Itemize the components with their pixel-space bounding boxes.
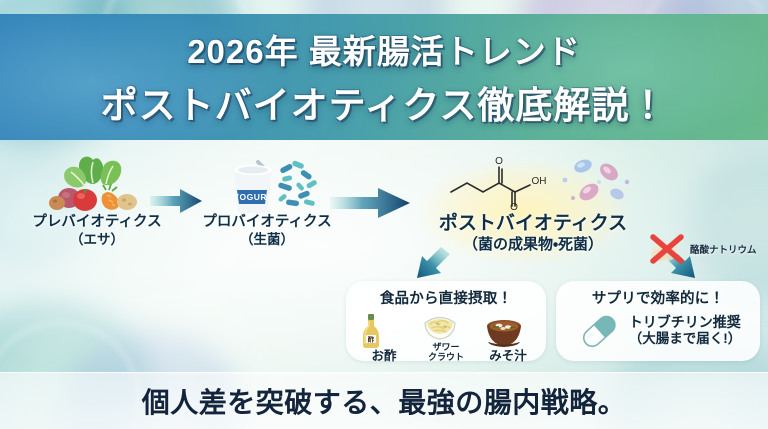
flow-node-postbiotics: O O OH — [398, 150, 668, 254]
infographic-canvas: 2026年 最新腸活トレンド ポストバイオティクス徹底解説！ — [0, 0, 768, 429]
card-food-title: 食品から直接摂取！ — [346, 287, 546, 308]
food-item-list: 酢 お酢 ザワー — [346, 310, 546, 363]
svg-text:酢: 酢 — [368, 334, 375, 343]
warning-group: 酪酸ナトリウム — [648, 232, 757, 266]
footer-tagline: 個人差を突破する、最強の腸内戦略。 — [142, 381, 627, 421]
footer-band: 個人差を突破する、最強の腸内戦略。 — [0, 372, 768, 429]
arrow-down-left-icon — [392, 244, 452, 286]
capsule-pill-icon — [575, 311, 623, 351]
sauerkraut-bowl-icon — [420, 310, 460, 342]
svg-text:OH: OH — [532, 176, 547, 187]
title-line-1: 2026年 最新腸活トレンド — [187, 25, 581, 73]
food-name-miso: みそ汁 — [482, 350, 534, 363]
yogurt-cup-icon: YOGURT — [182, 152, 352, 214]
flow-node-probiotics: YOGURT — [182, 152, 352, 248]
flow-label-prebiotics: プレバイオティクス （エサ） — [12, 214, 182, 248]
molecule-bacteria-icon: O O OH — [398, 150, 668, 212]
food-name-sauerkraut-line2: クラウト — [428, 352, 464, 362]
probiotics-sub: （生菌） — [182, 232, 352, 248]
probiotics-name: プロバイオティクス — [202, 214, 331, 230]
title-line-2: ポストバイオティクス徹底解説！ — [101, 75, 668, 129]
card-supplement: サプリで効率的に！ トリブチリン推奨 （大腸まで届く!） — [556, 281, 760, 361]
supplement-text: トリブチリン推奨 （大腸まで届く!） — [629, 314, 742, 348]
food-name-sauerkraut: ザワー クラウト — [420, 343, 472, 363]
prebiotics-name: プレバイオティクス — [32, 214, 161, 230]
food-item-vinegar: 酢 お酢 — [358, 313, 410, 363]
supplement-line1: トリブチリン推奨 — [629, 314, 741, 330]
svg-text:O: O — [495, 156, 503, 167]
vinegar-bottle-icon: 酢 — [358, 313, 384, 349]
prebiotics-sub: （エサ） — [12, 232, 182, 248]
food-item-sauerkraut: ザワー クラウト — [420, 310, 472, 363]
food-name-sauerkraut-line1: ザワー — [432, 342, 459, 352]
warning-caption: 酪酸ナトリウム — [690, 242, 757, 256]
svg-text:YOGURT: YOGURT — [233, 192, 273, 202]
card-food-intake: 食品から直接摂取！ 酢 お酢 — [346, 281, 546, 361]
flow-label-probiotics: プロバイオティクス （生菌） — [182, 214, 352, 248]
supplement-row: トリブチリン推奨 （大腸まで届く!） — [556, 311, 760, 351]
header-title-group: 2026年 最新腸活トレンド ポストバイオティクス徹底解説！ — [0, 14, 768, 140]
postbiotics-name: ポストバイオティクス — [439, 213, 627, 234]
card-supplement-title: サプリで効率的に！ — [556, 287, 760, 308]
food-item-miso: みそ汁 — [482, 315, 534, 363]
miso-soup-icon — [482, 315, 526, 349]
supplement-line2: （大腸まで届く!） — [629, 331, 742, 348]
food-name-vinegar: お酢 — [358, 350, 410, 363]
red-x-icon — [648, 232, 688, 266]
